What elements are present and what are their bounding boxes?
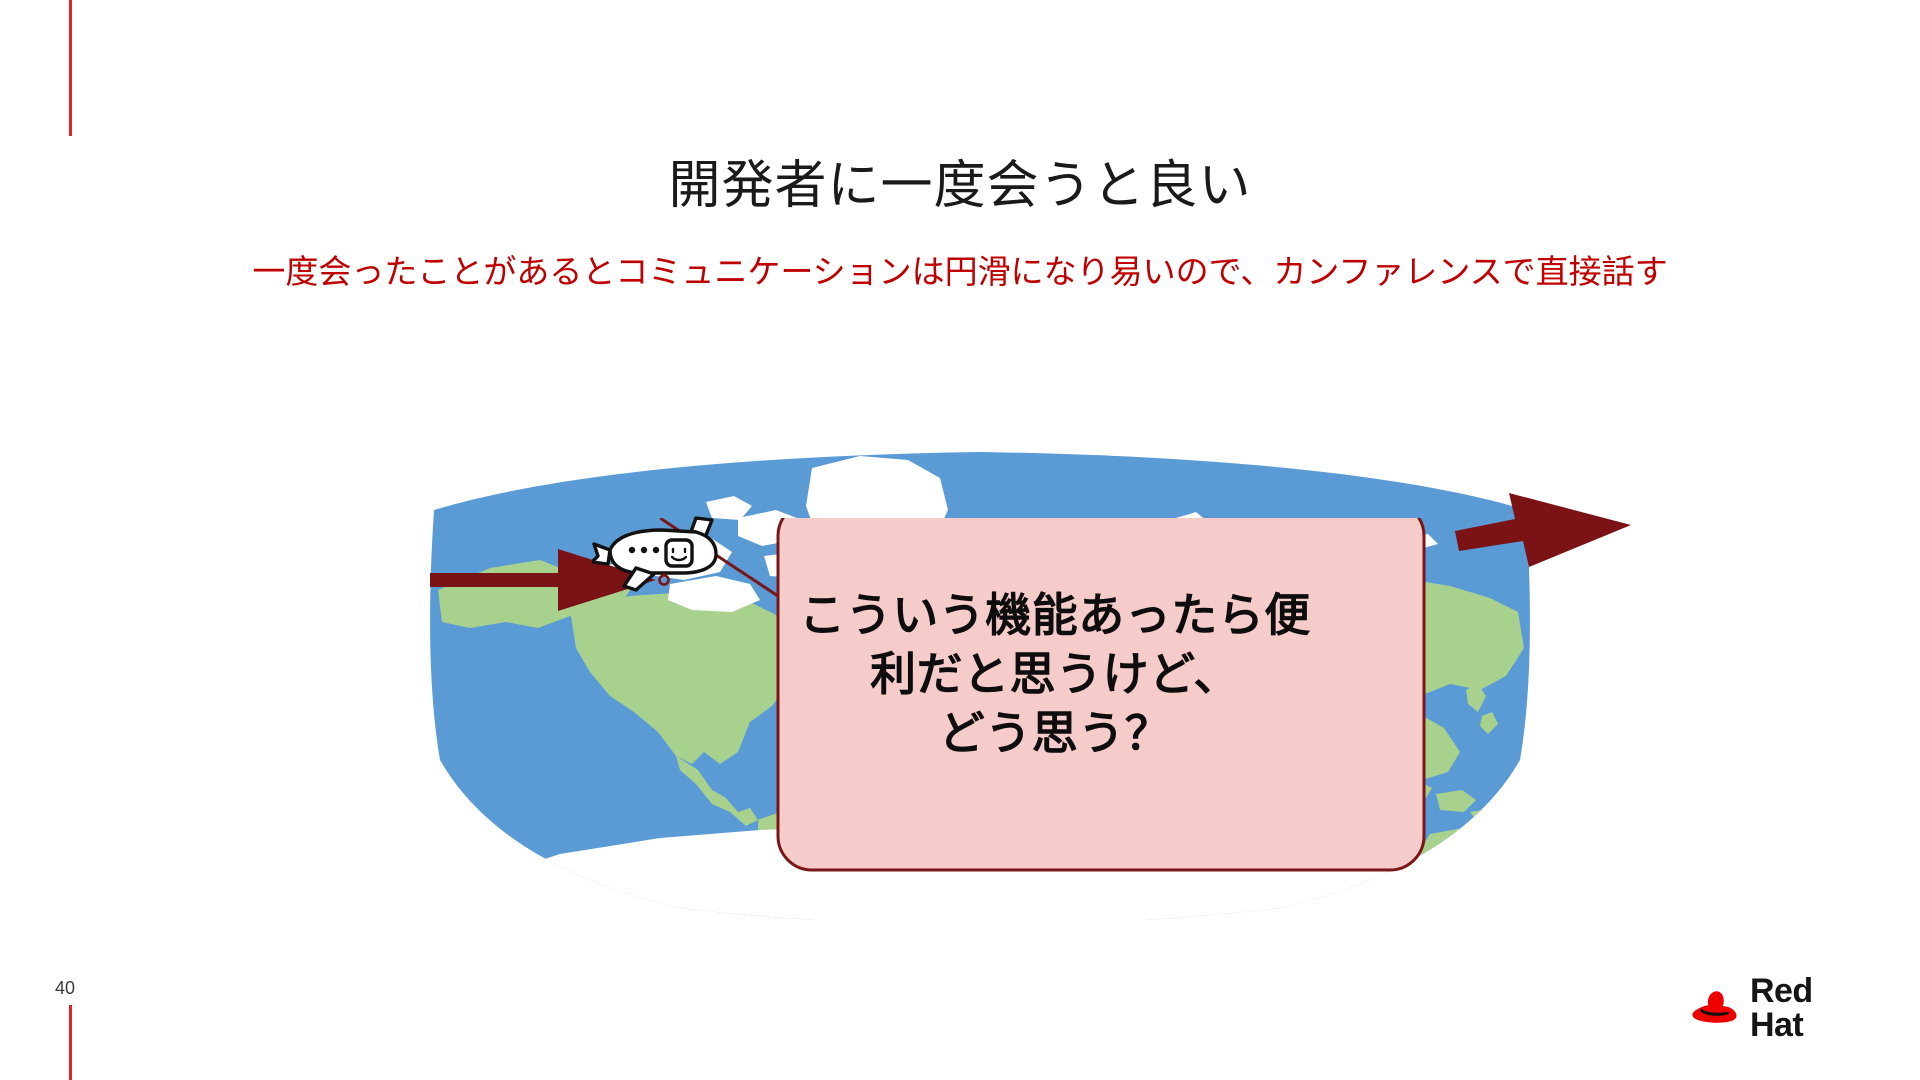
red-hat-fedora-icon	[1690, 988, 1740, 1028]
red-hat-logo: Red Hat	[1690, 982, 1870, 1034]
bubble-line-2: 利だと思うけど、	[770, 645, 1340, 704]
slide-canvas: 開発者に一度会うと良い 一度会ったことがあるとコミュニケーションは円滑になり易い…	[0, 0, 1920, 1080]
page-title: 開発者に一度会うと良い	[0, 158, 1920, 215]
accent-rule-top	[69, 0, 72, 136]
accent-rule-bottom	[69, 1005, 72, 1080]
page-subtitle: 一度会ったことがあるとコミュニケーションは円滑になり易いので、カンファレンスで直…	[0, 254, 1920, 290]
red-hat-wordmark: Red Hat	[1750, 974, 1870, 1042]
page-number: 40	[55, 978, 75, 999]
speech-bubble-text: こういう機能あったら便 利だと思うけど、 どう思う？	[770, 586, 1340, 763]
arrow-right-icon	[1455, 485, 1635, 570]
bubble-line-1: こういう機能あったら便	[770, 586, 1340, 645]
bubble-line-3: どう思う？	[770, 704, 1340, 763]
airplane-icon	[592, 510, 722, 600]
